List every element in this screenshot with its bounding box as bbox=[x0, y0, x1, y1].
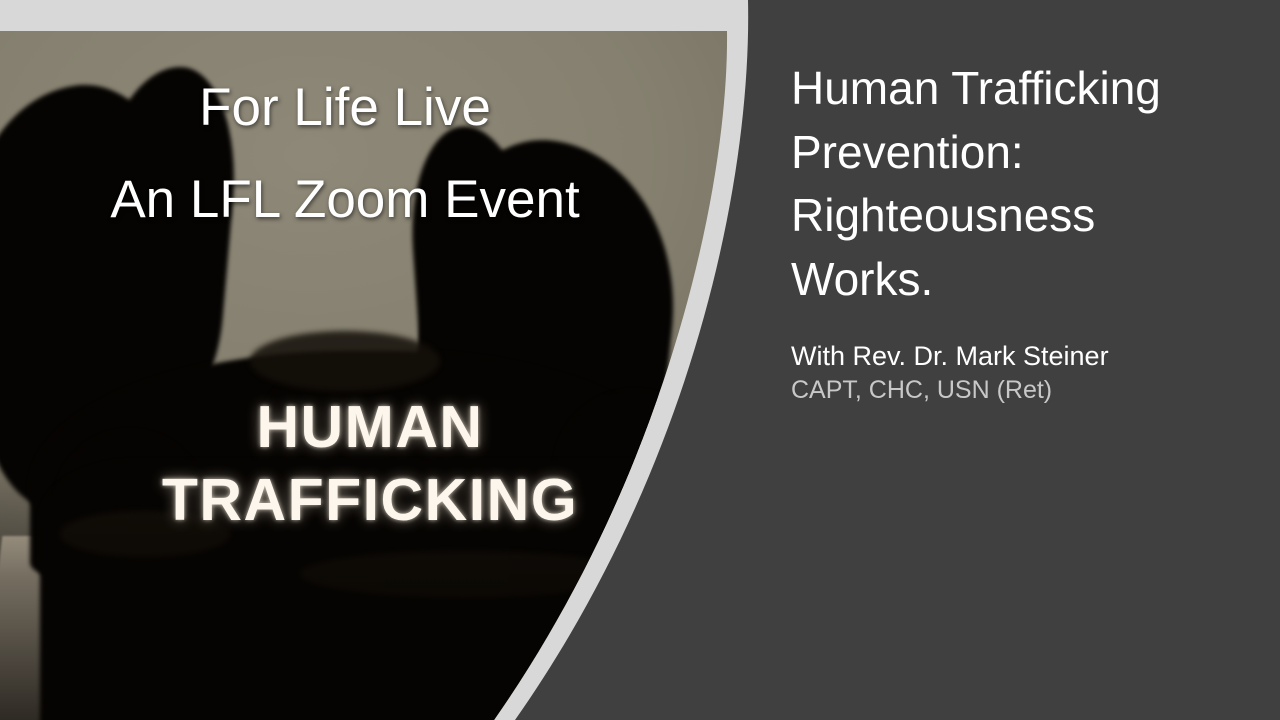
presenter-name: With Rev. Dr. Mark Steiner bbox=[791, 339, 1221, 374]
slide-title: Human Trafficking Prevention: Righteousn… bbox=[791, 57, 1221, 311]
presentation-slide: HUMAN TRAFFICKING For Life Live An LFL Z… bbox=[0, 0, 1280, 720]
right-text-block: Human Trafficking Prevention: Righteousn… bbox=[791, 57, 1221, 407]
event-overlay-title-line-2: An LFL Zoom Event bbox=[0, 154, 690, 246]
presenter-credential: CAPT, CHC, USN (Ret) bbox=[791, 374, 1221, 407]
event-overlay-title-line-1: For Life Live bbox=[0, 62, 690, 154]
photo-caption-line-1: HUMAN bbox=[0, 391, 740, 464]
event-overlay-title: For Life Live An LFL Zoom Event bbox=[0, 62, 690, 246]
rope-fray-upper bbox=[250, 331, 440, 391]
